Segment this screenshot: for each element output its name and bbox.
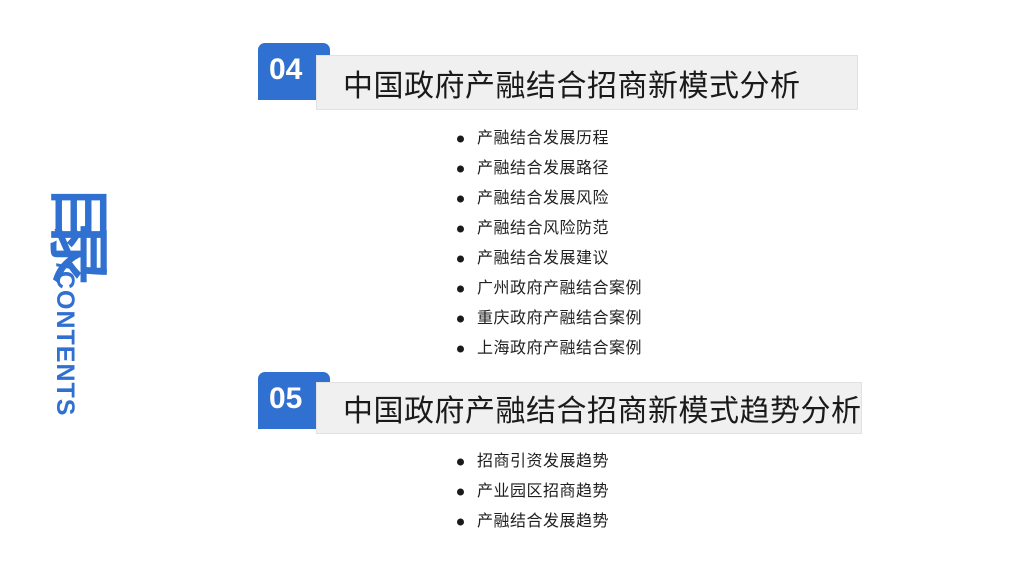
bullet-dot-icon: [457, 136, 464, 143]
list-item-label: 产融结合发展建议: [477, 244, 609, 274]
list-item-label: 重庆政府产融结合案例: [477, 304, 642, 334]
bullet-dot-icon: [457, 196, 464, 203]
bullet-dot-icon: [457, 459, 464, 466]
section-05-title-box[interactable]: 中国政府产融结合招商新模式趋势分析: [316, 382, 862, 434]
section-04-number: 04: [269, 55, 302, 85]
list-item-label: 广州政府产融结合案例: [477, 274, 642, 304]
list-item-label: 招商引资发展趋势: [477, 447, 609, 477]
contents-vertical-label-inner: 目录 /CONTENTS: [46, 185, 108, 416]
bullet-dot-icon: [457, 166, 464, 173]
bullet-dot-icon: [457, 256, 464, 263]
list-item-label: 产融结合风险防范: [477, 214, 609, 244]
bullet-dot-icon: [457, 286, 464, 293]
list-item-label: 产融结合发展风险: [477, 184, 609, 214]
list-item-label: 产融结合发展历程: [477, 124, 609, 154]
list-item-label: 产融结合发展趋势: [477, 507, 609, 537]
section-04-title: 中国政府产融结合招商新模式分析: [343, 61, 801, 105]
bullet-dot-icon: [457, 489, 464, 496]
contents-label-english: /CONTENTS: [52, 263, 77, 416]
bullet-dot-icon: [457, 226, 464, 233]
list-item-label: 产业园区招商趋势: [477, 477, 609, 507]
contents-label-chinese: 目录: [46, 185, 108, 261]
bullet-dot-icon: [457, 519, 464, 526]
section-05-number: 05: [269, 384, 302, 414]
bullet-dot-icon: [457, 316, 464, 323]
list-item-label: 产融结合发展路径: [477, 154, 609, 184]
section-04-title-box[interactable]: 中国政府产融结合招商新模式分析: [316, 55, 858, 110]
toc-slide: 目录 /CONTENTS 04 中国政府产融结合招商新模式分析 产融结合发展历程…: [0, 0, 1024, 576]
section-05-title: 中国政府产融结合招商新模式趋势分析: [343, 386, 862, 430]
list-item-label: 上海政府产融结合案例: [477, 334, 642, 364]
bullet-dot-icon: [457, 346, 464, 353]
